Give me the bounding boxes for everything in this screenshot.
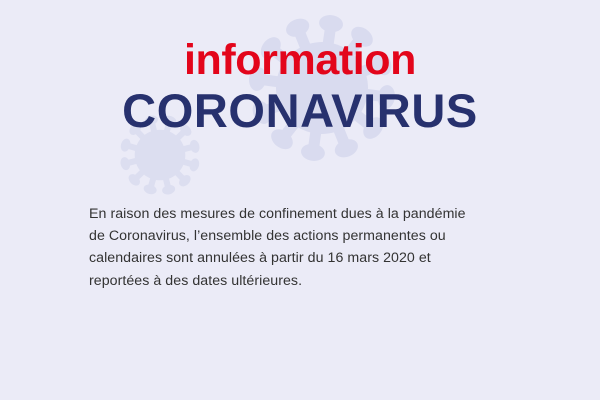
banner-headline: information CORONAVIRUS	[0, 38, 600, 138]
headline-information: information	[0, 38, 600, 83]
coronavirus-information-banner: information CORONAVIRUS En raison des me…	[0, 0, 600, 400]
headline-coronavirus: CORONAVIRUS	[0, 85, 600, 138]
notice-paragraph: En raison des mesures de confinement due…	[89, 203, 481, 292]
notice-body: En raison des mesures de confinement due…	[89, 203, 481, 292]
